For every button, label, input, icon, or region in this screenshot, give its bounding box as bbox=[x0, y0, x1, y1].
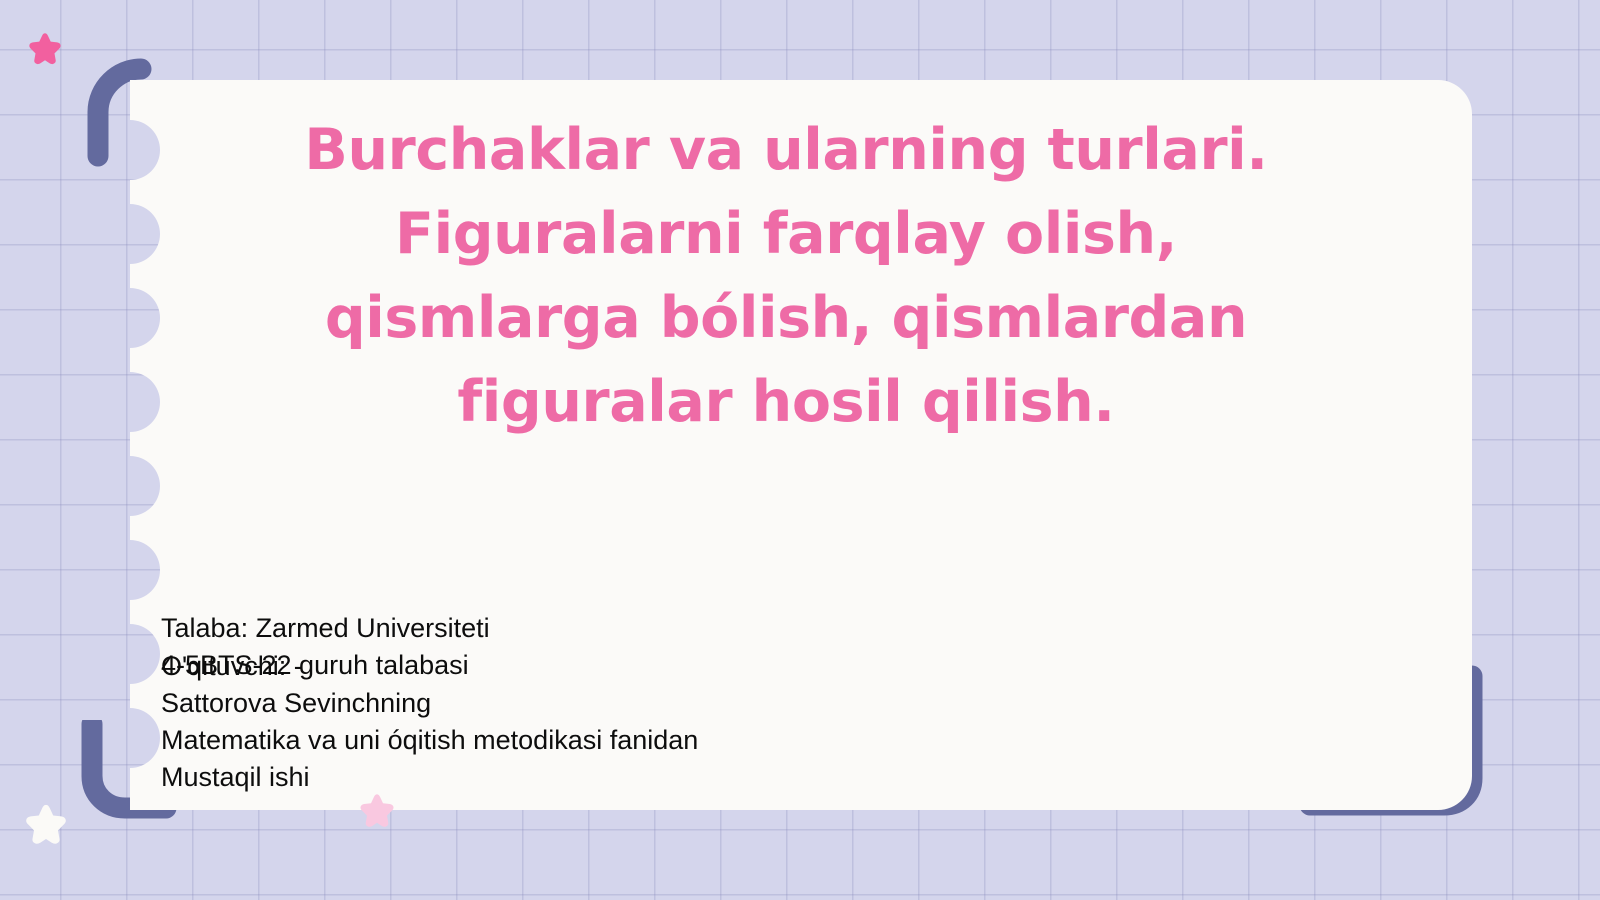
slide-title: Burchaklar va ularning turlari. Figurala… bbox=[276, 108, 1296, 444]
title-line-2: Figuralarni farqlay olish, bbox=[276, 192, 1296, 276]
title-line-1: Burchaklar va ularning turlari. bbox=[276, 108, 1296, 192]
title-line-3: qismlarga bólish, qismlardan bbox=[276, 276, 1296, 360]
teacher-info-text: O'qituvchi: - Sattorova Sevinchning Mate… bbox=[161, 648, 698, 796]
slide-card: Burchaklar va ularning turlari. Figurala… bbox=[96, 80, 1472, 810]
star-icon bbox=[22, 802, 70, 850]
star-icon bbox=[26, 31, 64, 69]
star-icon bbox=[357, 792, 397, 832]
title-line-4: figuralar hosil qilish. bbox=[276, 360, 1296, 444]
slide-canvas: Burchaklar va ularning turlari. Figurala… bbox=[0, 0, 1600, 900]
